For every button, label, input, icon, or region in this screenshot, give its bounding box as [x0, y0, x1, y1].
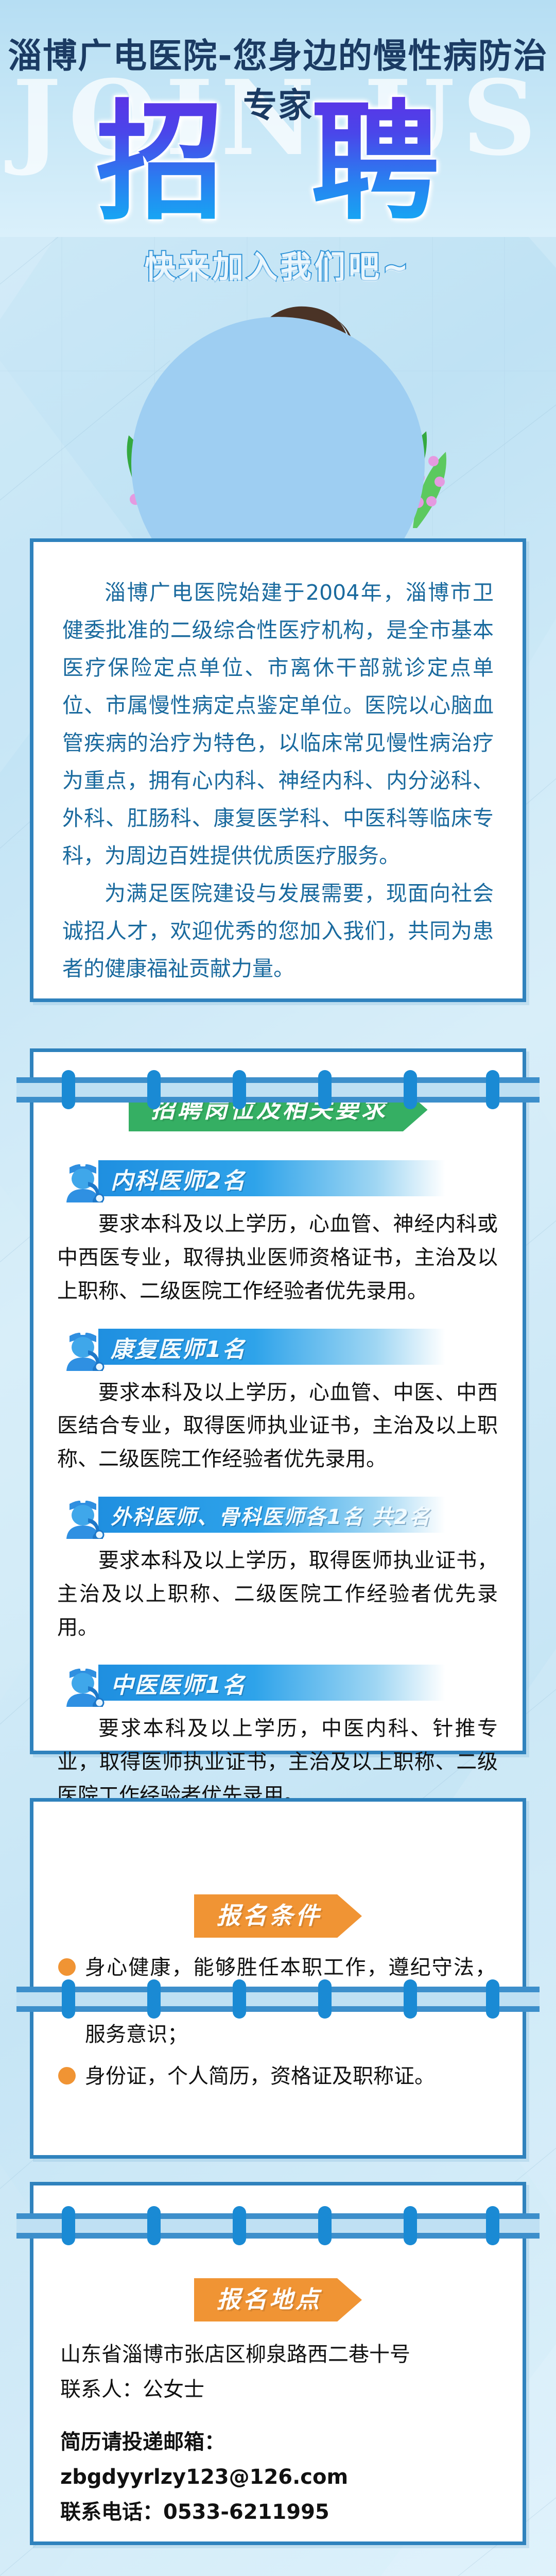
ring-bar-top: [16, 2213, 540, 2219]
ring-bar-bottom: [16, 2006, 540, 2012]
ring: [486, 1979, 499, 2019]
ring: [404, 2206, 417, 2245]
contact-phone[interactable]: 联系电话：0533-6211995: [60, 2495, 496, 2530]
job-item[interactable]: 外科医师、骨科医师各1名 共2名 要求本科及以上学历，取得医师执业证书，主治及以…: [33, 1489, 523, 1644]
page-footer: 公众号 · 淄博广电医院: [0, 2556, 556, 2576]
jobs-list: 内科医师2名 要求本科及以上学历，心血管、神经内科或中西医专业，取得执业医师资格…: [33, 1153, 523, 1812]
job-item[interactable]: 中医医师1名 要求本科及以上学历，中医内科、针推专业，取得医师执业证书，主治及以…: [33, 1657, 523, 1812]
ring: [486, 1070, 499, 1109]
ring: [62, 2206, 75, 2245]
ring-band: [16, 1083, 540, 1097]
ring-band: [16, 2219, 540, 2233]
page-title: 招 聘: [0, 95, 556, 231]
conditions-section-title: 报名条件: [194, 1894, 362, 1938]
ring: [318, 1070, 332, 1109]
doctor-illustration: [77, 286, 479, 528]
ring: [233, 2206, 246, 2245]
page-subtitle: 快来加入我们吧~: [0, 242, 556, 287]
intro-paragraph-2: 为满足医院建设与发展需要，现面向社会诚招人才，欢迎优秀的您加入我们，共同为患者的…: [62, 875, 494, 988]
location-section-title: 报名地点: [194, 2278, 362, 2321]
location-section-header: 报名地点: [33, 2278, 523, 2321]
ring: [318, 1979, 332, 2019]
job-requirement: 要求本科及以上学历，中医内科、针推专业，取得医师执业证书，主治及以上职称、二级医…: [33, 1707, 523, 1812]
ring: [147, 1070, 161, 1109]
intro-card: 淄博广电医院始建于2004年，淄博市卫健委批准的二级综合性医疗机构，是全市基本医…: [30, 538, 526, 1002]
ring: [486, 2206, 499, 2245]
list-item: 身份证，个人简历，资格证及职称证。: [58, 2060, 496, 2093]
conditions-list: 身心健康，能够胜任本职工作，遵纪守法，恪守职业道德，具有较强的团结协作精神和服务…: [33, 1938, 523, 2124]
contact-email[interactable]: 简历请投递邮箱：zbgdyyrlzy123@126.com: [60, 2425, 496, 2495]
job-title: 中医医师1名: [111, 1668, 523, 1699]
doctor-badge-icon: [59, 1658, 107, 1707]
job-title: 康复医师1名: [111, 1332, 523, 1363]
notebook-rings: [30, 2200, 526, 2249]
job-header: 康复医师1名: [53, 1321, 523, 1371]
ring-bar-top: [16, 1987, 540, 1992]
doctor-badge-icon: [59, 1323, 107, 1371]
contact-person: 联系人：公女士: [60, 2372, 496, 2407]
job-header: 内科医师2名: [53, 1153, 523, 1202]
ring-bar-bottom: [16, 1097, 540, 1103]
doctor-badge-icon: [59, 1154, 107, 1202]
ring: [318, 2206, 332, 2245]
contact-address: 山东省淄博市张店区柳泉路西二巷十号: [60, 2337, 496, 2372]
intro-text-block: 淄博广电医院始建于2004年，淄博市卫健委批准的二级综合性医疗机构，是全市基本医…: [33, 542, 523, 1021]
intro-paragraph-1: 淄博广电医院始建于2004年，淄博市卫健委批准的二级综合性医疗机构，是全市基本医…: [62, 574, 494, 875]
ring: [62, 1979, 75, 2019]
job-header: 外科医师、骨科医师各1名 共2名: [53, 1489, 523, 1539]
ring: [233, 1979, 246, 2019]
ring: [404, 1979, 417, 2019]
job-title: 内科医师2名: [111, 1163, 523, 1194]
conditions-section-header: 报名条件: [33, 1894, 523, 1938]
condition-text: 身份证，个人简历，资格证及职称证。: [85, 2060, 435, 2093]
job-title: 外科医师、骨科医师各1名 共2名: [111, 1500, 523, 1531]
notebook-rings: [30, 1973, 526, 2023]
ring-bar-bottom: [16, 2233, 540, 2239]
doctor-badge-icon: [59, 1490, 107, 1539]
bullet-dot-icon: [58, 2067, 76, 2084]
job-requirement: 要求本科及以上学历，心血管、神经内科或中西医专业，取得执业医师资格证书，主治及以…: [33, 1202, 523, 1308]
hero-section: JOIN US 淄博广电医院-您身边的慢性病防治专家 招 聘 快来加入我们吧~: [0, 0, 556, 536]
job-requirement: 要求本科及以上学历，心血管、中医、中西医结合专业，取得医师执业证书，主治及以上职…: [33, 1371, 523, 1476]
ring: [147, 1979, 161, 2019]
job-item[interactable]: 康复医师1名 要求本科及以上学历，心血管、中医、中西医结合专业，取得医师执业证书…: [33, 1321, 523, 1476]
notebook-rings: [30, 1064, 526, 1113]
job-header: 中医医师1名: [53, 1657, 523, 1707]
ring-band: [16, 1992, 540, 2006]
job-requirement: 要求本科及以上学历，取得医师执业证书，主治及以上职称、二级医院工作经验者优先录用…: [33, 1539, 523, 1644]
jobs-card: 招聘岗位及相关要求 内科医师2名 要求本科及以上学历，心血管、神经内科或中西医专…: [30, 1048, 526, 1754]
ring: [233, 1070, 246, 1109]
contact-block: 山东省淄博市张店区柳泉路西二巷十号 联系人：公女士 简历请投递邮箱：zbgdyy…: [33, 2321, 523, 2555]
ring: [404, 1070, 417, 1109]
ring: [147, 2206, 161, 2245]
job-item[interactable]: 内科医师2名 要求本科及以上学历，心血管、神经内科或中西医专业，取得执业医师资格…: [33, 1153, 523, 1308]
ring-bar-top: [16, 1077, 540, 1083]
ring: [62, 1070, 75, 1109]
